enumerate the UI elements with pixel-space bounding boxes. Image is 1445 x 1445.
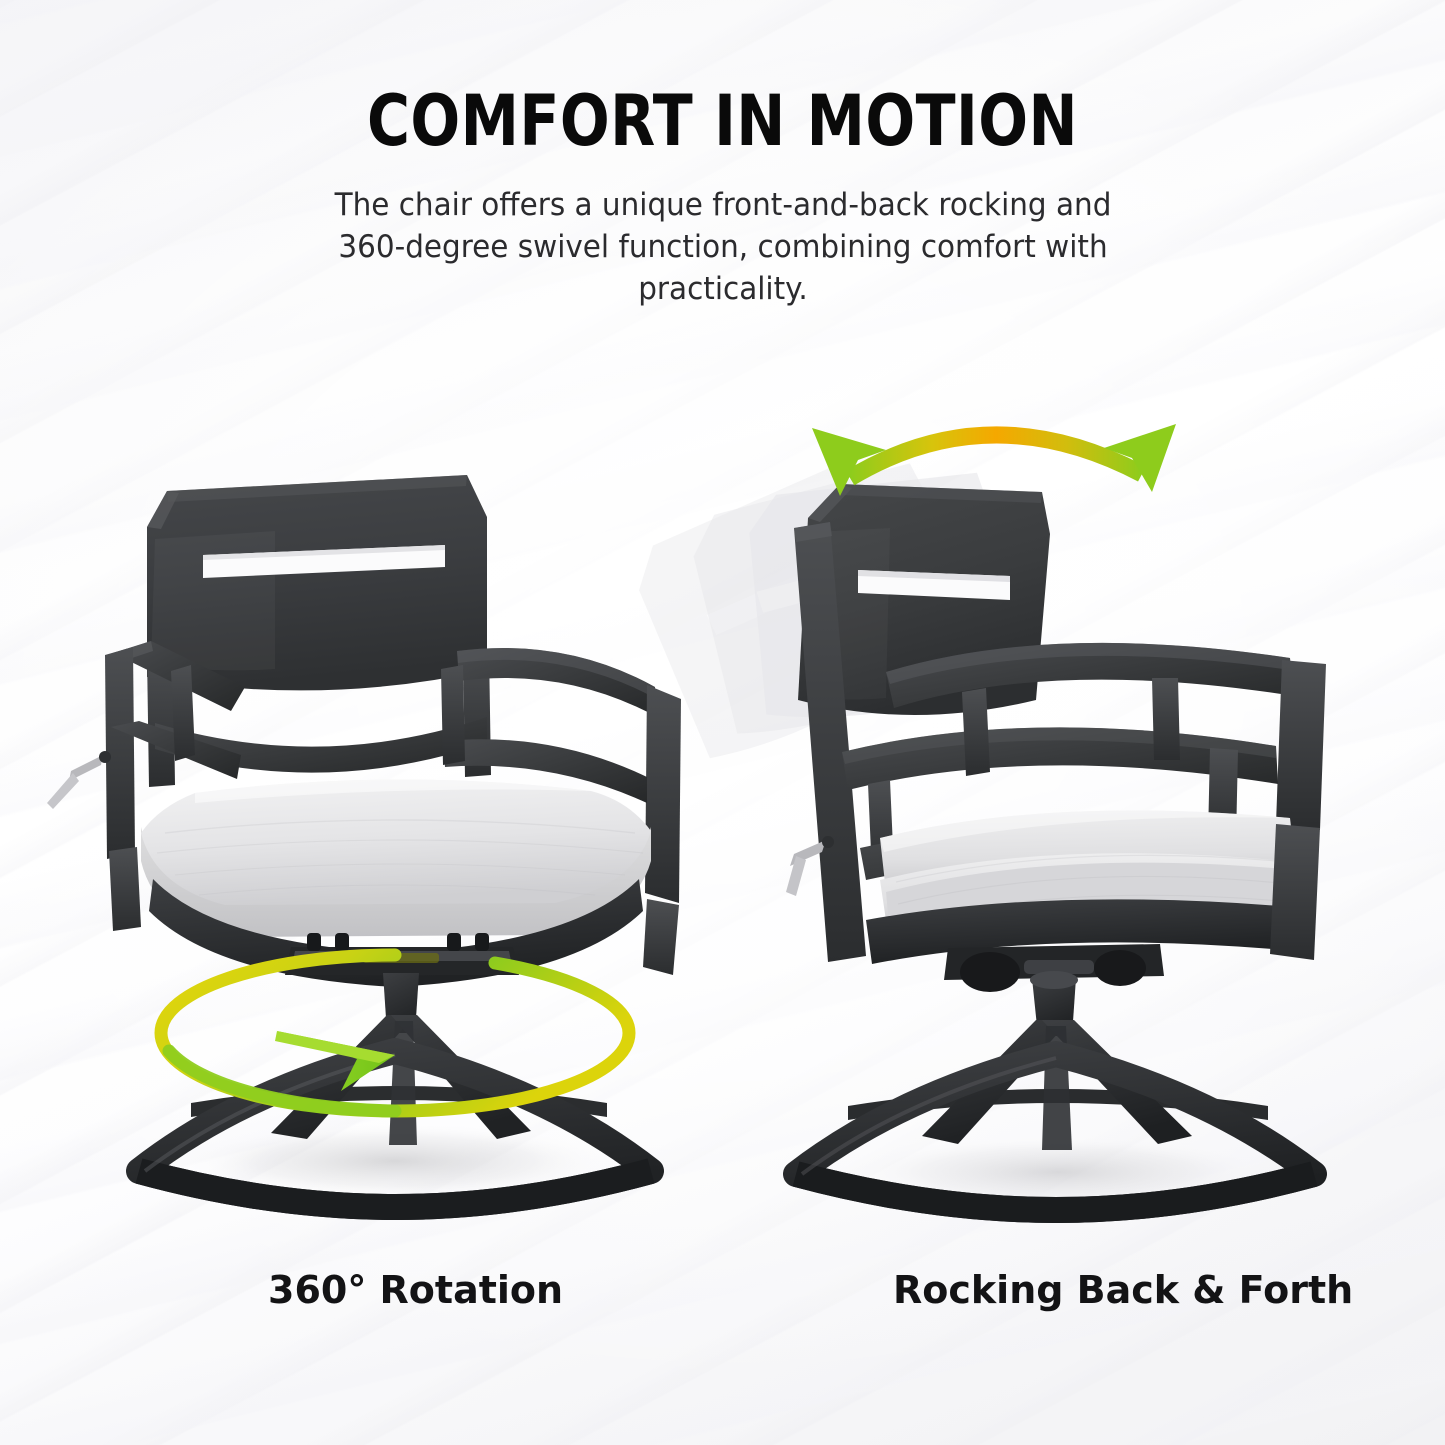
left-chair-illustration [95,455,735,1245]
backrest [147,475,487,690]
arm-front-leg [1270,824,1320,960]
caption-360-rotation: 360° Rotation [268,1268,563,1312]
seat-cushion [141,779,651,937]
right-chair-illustration [690,400,1370,1245]
arm-front-post [1276,660,1326,830]
tilt-lever [47,751,111,809]
caption-rocking-back-and-forth: Rocking Back & Forth [893,1268,1353,1312]
product-illustration-stage [0,0,1445,1445]
